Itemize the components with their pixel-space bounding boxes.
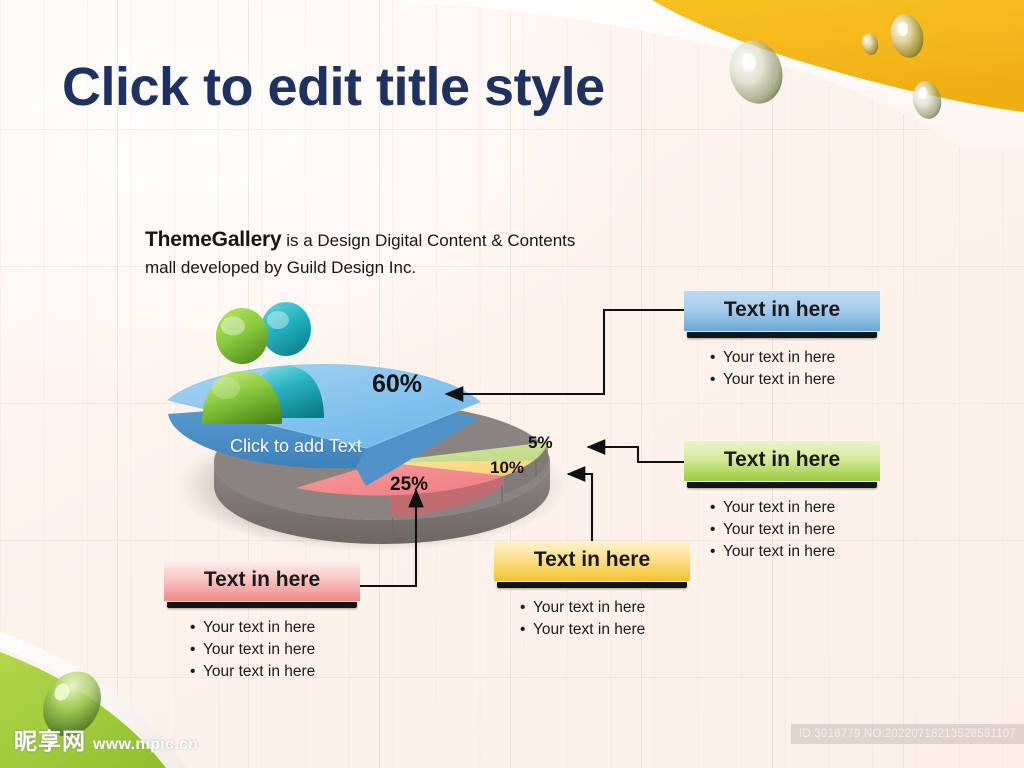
callout-yellow-underline (497, 582, 687, 588)
list-item[interactable]: Your text in here (190, 661, 360, 683)
list-item[interactable]: Your text in here (190, 639, 360, 661)
list-item[interactable]: Your text in here (520, 597, 690, 619)
list-item[interactable]: Your text in here (520, 619, 690, 641)
callout-yellow-heading[interactable]: Text in here (494, 541, 690, 581)
callout-blue-underline (687, 332, 877, 338)
list-item[interactable]: Your text in here (710, 369, 880, 391)
list-item[interactable]: Your text in here (190, 617, 360, 639)
callout-green-body: Your text in here Your text in here Your… (684, 497, 880, 563)
pie-slice-label-60: 60% (372, 370, 422, 399)
callout-blue[interactable]: Text in here Your text in here Your text… (684, 291, 880, 391)
pie-center-placeholder[interactable]: Click to add Text (230, 436, 362, 457)
callout-green[interactable]: Text in here Your text in here Your text… (684, 441, 880, 563)
callout-green-heading[interactable]: Text in here (684, 441, 880, 481)
theme-gallery-brand: ThemeGallery (145, 228, 282, 251)
callout-blue-heading[interactable]: Text in here (684, 291, 880, 331)
callout-blue-body: Your text in here Your text in here (684, 347, 880, 391)
list-item[interactable]: Your text in here (710, 519, 880, 541)
callout-yellow-body: Your text in here Your text in here (494, 597, 690, 641)
callout-pink-heading[interactable]: Text in here (164, 561, 360, 601)
pie-slice-label-10: 10% (490, 458, 524, 478)
callout-pink-body: Your text in here Your text in here Your… (164, 617, 360, 683)
people-icon (190, 296, 350, 426)
slide-canvas: Click to edit title style ThemeGallery i… (0, 0, 1024, 768)
list-item[interactable]: Your text in here (710, 347, 880, 369)
theme-gallery-line-2: mall developed by Guild Design Inc. (145, 255, 705, 280)
theme-gallery-paragraph[interactable]: ThemeGallery is a Design Digital Content… (145, 224, 705, 280)
list-item[interactable]: Your text in here (710, 497, 880, 519)
watermark-site: 昵享网 www.nipic.cn (14, 722, 198, 756)
watermark-site-url: www.nipic.cn (93, 736, 198, 754)
watermark-site-name: 昵享网 (14, 722, 86, 756)
callout-pink[interactable]: Text in here Your text in here Your text… (164, 561, 360, 683)
theme-gallery-line-1: ThemeGallery is a Design Digital Content… (145, 224, 705, 255)
pie-slice-label-25: 25% (390, 474, 428, 496)
slide-title[interactable]: Click to edit title style (62, 56, 605, 118)
list-item[interactable]: Your text in here (710, 541, 880, 563)
pie-slice-label-5: 5% (528, 433, 553, 453)
watermark-id: ID:3018779 NO:20220718213528581107 (791, 724, 1024, 744)
theme-gallery-line-1-rest: is a Design Digital Content & Contents (282, 231, 576, 250)
callout-yellow[interactable]: Text in here Your text in here Your text… (494, 541, 690, 641)
pie-chart[interactable]: 60% 25% 10% 5% Click to add Text (150, 290, 620, 560)
callout-green-underline (687, 482, 877, 488)
callout-pink-underline (167, 602, 357, 608)
